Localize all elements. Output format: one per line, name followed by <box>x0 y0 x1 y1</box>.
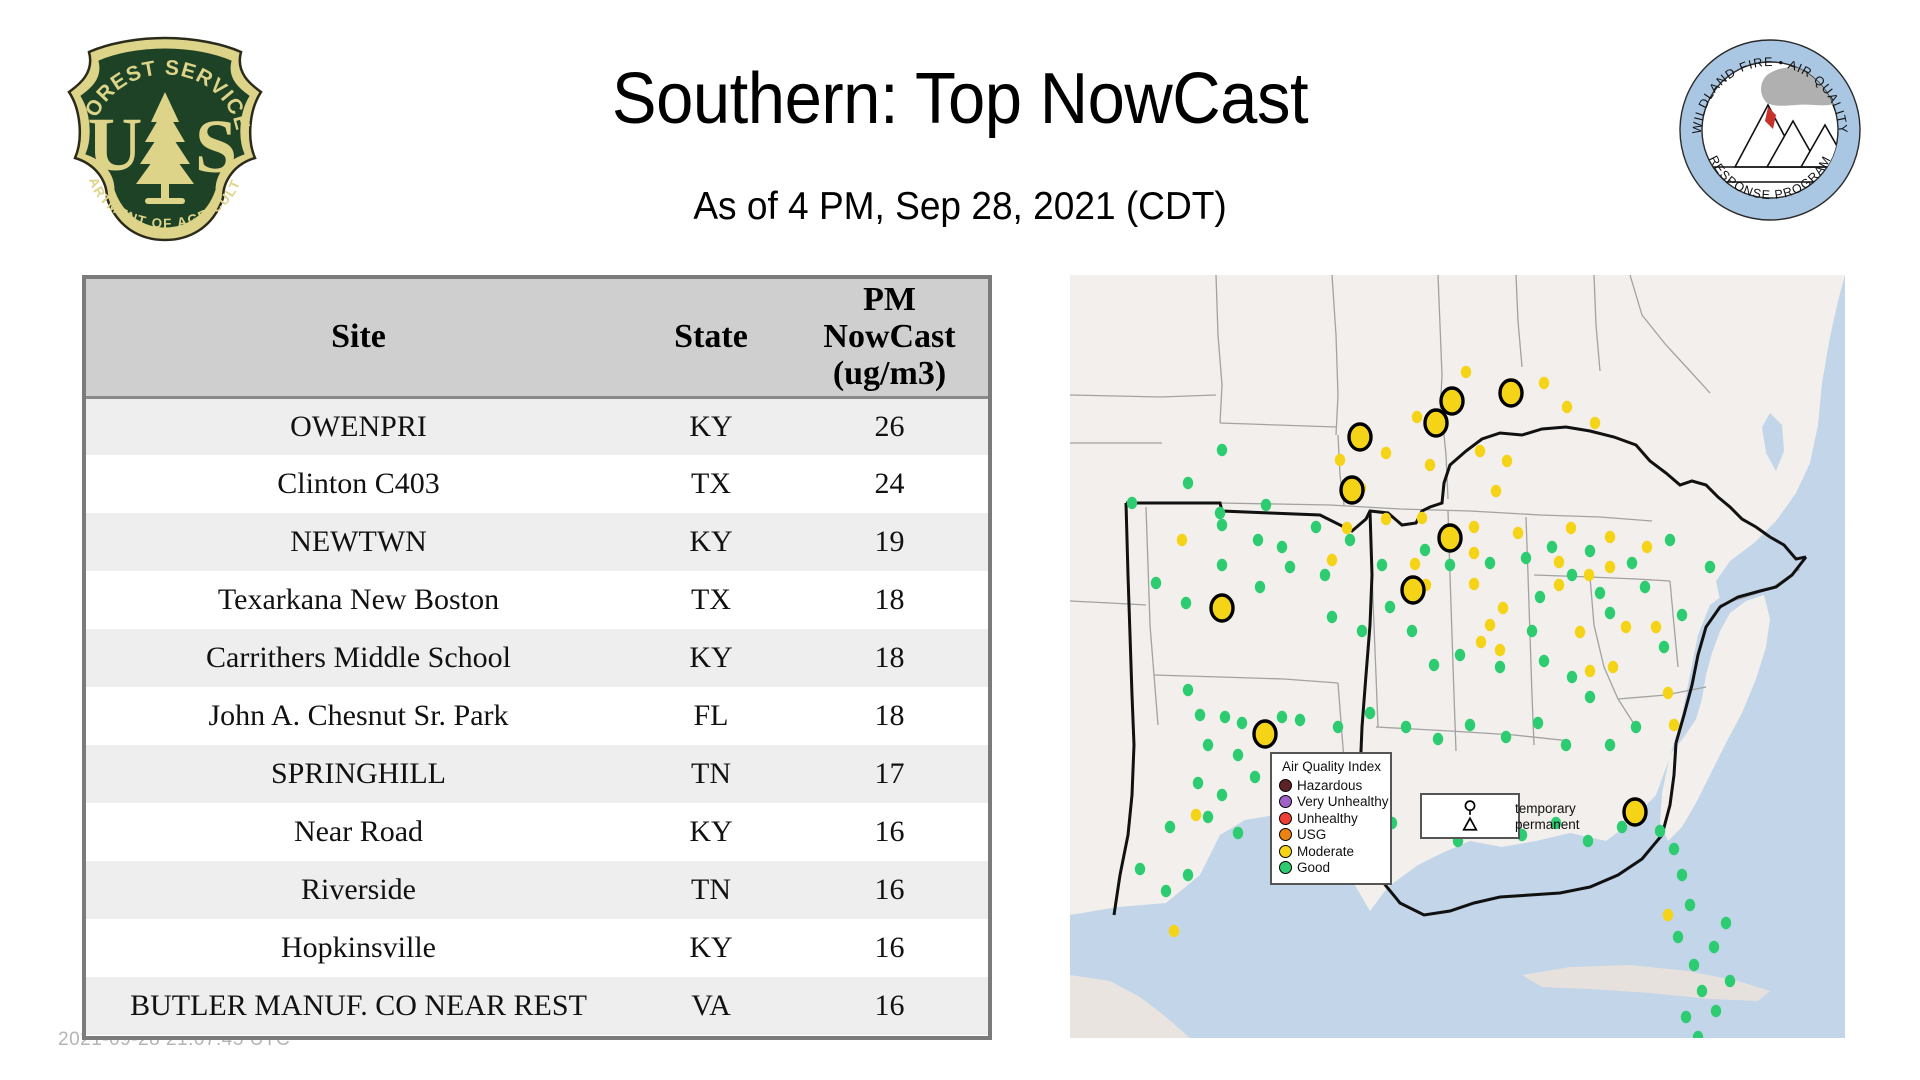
good-monitor-dot <box>1333 721 1343 733</box>
good-monitor-dot <box>1195 709 1205 721</box>
pm-cell: 24 <box>791 455 988 513</box>
good-monitor-dot <box>1261 499 1271 511</box>
moderate-monitor-dot <box>1412 411 1422 423</box>
good-monitor-dot <box>1585 545 1595 557</box>
good-monitor-dot <box>1527 625 1537 637</box>
moderate-monitor-dot <box>1608 661 1618 673</box>
moderate-monitor-dot <box>1342 522 1352 534</box>
top-site-marker[interactable] <box>1254 721 1276 747</box>
aqi-swatch-icon <box>1279 828 1292 841</box>
good-monitor-dot <box>1327 611 1337 623</box>
moderate-monitor-dot <box>1566 522 1576 534</box>
top-nowcast-table: Site State PM NowCast (ug/m3) OWENPRIKY2… <box>82 275 992 1040</box>
moderate-monitor-dot <box>1381 513 1391 525</box>
site-cell: Riverside <box>86 861 631 919</box>
good-monitor-dot <box>1567 671 1577 683</box>
table-row: SPRINGHILLTN17 <box>86 745 988 803</box>
moderate-monitor-dot <box>1605 531 1615 543</box>
good-monitor-dot <box>1217 444 1227 456</box>
aqi-legend-label: Hazardous <box>1297 778 1362 793</box>
good-monitor-dot <box>1627 557 1637 569</box>
moderate-monitor-dot <box>1584 569 1594 581</box>
good-monitor-dot <box>1539 655 1549 667</box>
aqi-legend-row: Unhealthy <box>1279 810 1384 827</box>
good-monitor-dot <box>1253 534 1263 546</box>
good-monitor-dot <box>1345 534 1355 546</box>
svg-text:S: S <box>195 105 237 189</box>
good-monitor-dot <box>1721 917 1731 929</box>
moderate-monitor-dot <box>1554 556 1564 568</box>
moderate-monitor-dot <box>1169 925 1179 937</box>
good-monitor-dot <box>1583 835 1593 847</box>
good-monitor-dot <box>1295 714 1305 726</box>
moderate-monitor-dot <box>1663 909 1673 921</box>
aqi-legend-label: Moderate <box>1297 844 1354 859</box>
good-monitor-dot <box>1617 821 1627 833</box>
moderate-monitor-dot <box>1335 454 1345 466</box>
good-monitor-dot <box>1677 609 1687 621</box>
moderate-monitor-dot <box>1485 619 1495 631</box>
good-monitor-dot <box>1217 519 1227 531</box>
good-monitor-dot <box>1401 721 1411 733</box>
good-monitor-dot <box>1151 577 1161 589</box>
site-cell: Clinton C403 <box>86 455 631 513</box>
air-quality-map[interactable]: Air Quality Index HazardousVery Unhealth… <box>1070 275 1845 1038</box>
good-monitor-dot <box>1217 559 1227 571</box>
moderate-monitor-dot <box>1476 636 1486 648</box>
aqi-swatch-icon <box>1279 812 1292 825</box>
good-monitor-dot <box>1485 557 1495 569</box>
site-cell: BUTLER MANUF. CO NEAR REST <box>86 977 631 1035</box>
svg-text:U: U <box>88 103 143 187</box>
page-subtitle: As of 4 PM, Sep 28, 2021 (CDT) <box>48 185 1872 229</box>
good-monitor-dot <box>1535 591 1545 603</box>
aqi-legend-label: Very Unhealthy <box>1297 794 1389 809</box>
good-monitor-dot <box>1203 739 1213 751</box>
legend-row-permanent: permanent <box>1428 816 1512 832</box>
table-row: Near RoadKY16 <box>86 803 988 861</box>
good-monitor-dot <box>1685 899 1695 911</box>
good-monitor-dot <box>1233 749 1243 761</box>
moderate-monitor-dot <box>1651 621 1661 633</box>
legend-row-temporary: temporary <box>1428 800 1512 816</box>
moderate-monitor-dot <box>1469 547 1479 559</box>
good-monitor-dot <box>1521 552 1531 564</box>
state-cell: TX <box>631 571 791 629</box>
good-monitor-dot <box>1501 731 1511 743</box>
page-title: Southern: Top NowCast <box>67 58 1853 140</box>
pm-cell: 18 <box>791 571 988 629</box>
state-cell: TX <box>631 455 791 513</box>
table-row: John A. Chesnut Sr. ParkFL18 <box>86 687 988 745</box>
temporary-circle-icon <box>1428 800 1512 816</box>
map-svg <box>1070 275 1845 1038</box>
state-cell: KY <box>631 397 791 455</box>
table-row: OWENPRIKY26 <box>86 397 988 455</box>
good-monitor-dot <box>1233 827 1243 839</box>
good-monitor-dot <box>1595 587 1605 599</box>
good-monitor-dot <box>1215 507 1225 519</box>
site-cell: NEWTWN <box>86 513 631 571</box>
site-cell: Near Road <box>86 803 631 861</box>
aqi-legend-label: Good <box>1297 860 1330 875</box>
site-cell: SPRINGHILL <box>86 745 631 803</box>
aqi-swatch-icon <box>1279 795 1292 808</box>
top-site-marker[interactable] <box>1402 577 1424 603</box>
pm-header-line-2: NowCast <box>791 319 988 356</box>
good-monitor-dot <box>1385 601 1395 613</box>
good-monitor-dot <box>1277 711 1287 723</box>
state-cell: KY <box>631 629 791 687</box>
pm-cell: 26 <box>791 397 988 455</box>
top-site-marker[interactable] <box>1624 799 1646 825</box>
good-monitor-dot <box>1433 733 1443 745</box>
good-monitor-dot <box>1161 885 1171 897</box>
top-site-marker[interactable] <box>1500 380 1522 406</box>
pm-cell: 16 <box>791 861 988 919</box>
good-monitor-dot <box>1495 661 1505 673</box>
good-monitor-dot <box>1640 581 1650 593</box>
column-header-state: State <box>631 279 791 397</box>
moderate-monitor-dot <box>1381 447 1391 459</box>
moderate-monitor-dot <box>1191 809 1201 821</box>
good-monitor-dot <box>1165 821 1175 833</box>
good-monitor-dot <box>1665 534 1675 546</box>
good-monitor-dot <box>1183 477 1193 489</box>
aqi-legend-row: Hazardous <box>1279 777 1384 794</box>
pm-cell: 19 <box>791 513 988 571</box>
state-cell: KY <box>631 513 791 571</box>
good-monitor-dot <box>1605 739 1615 751</box>
legend-label-temporary: temporary <box>1515 801 1576 816</box>
moderate-monitor-dot <box>1469 521 1479 533</box>
table-row: RiversideTN16 <box>86 861 988 919</box>
good-monitor-dot <box>1567 569 1577 581</box>
moderate-monitor-dot <box>1562 401 1572 413</box>
table-row: HopkinsvilleKY16 <box>86 919 988 977</box>
good-monitor-dot <box>1631 721 1641 733</box>
moderate-monitor-dot <box>1327 554 1337 566</box>
table-body: OWENPRIKY26Clinton C403TX24NEWTWNKY19Tex… <box>86 397 988 1035</box>
site-cell: Carrithers Middle School <box>86 629 631 687</box>
pm-cell: 16 <box>791 803 988 861</box>
site-cell: Hopkinsville <box>86 919 631 977</box>
state-cell: KY <box>631 803 791 861</box>
state-cell: VA <box>631 977 791 1035</box>
moderate-monitor-dot <box>1642 541 1652 553</box>
permanent-triangle-icon <box>1428 816 1512 832</box>
table-row: NEWTWNKY19 <box>86 513 988 571</box>
good-monitor-dot <box>1127 497 1137 509</box>
pm-header-line-3: (ug/m3) <box>791 356 988 393</box>
aqi-swatch-icon <box>1279 861 1292 874</box>
slide-canvas: 2021-09-28 21:07:45 UTC FOREST SERVICE U… <box>0 0 1920 1080</box>
aqi-legend-row: Very Unhealthy <box>1279 794 1384 811</box>
site-cell: OWENPRI <box>86 397 631 455</box>
aqi-legend-row: Moderate <box>1279 843 1384 860</box>
good-monitor-dot <box>1585 691 1595 703</box>
good-monitor-dot <box>1455 649 1465 661</box>
top-site-marker[interactable] <box>1341 477 1363 503</box>
good-monitor-dot <box>1533 717 1543 729</box>
good-monitor-dot <box>1711 1005 1721 1017</box>
moderate-monitor-dot <box>1621 621 1631 633</box>
top-site-marker[interactable] <box>1349 424 1371 450</box>
good-monitor-dot <box>1429 659 1439 671</box>
top-site-marker[interactable] <box>1211 595 1233 621</box>
state-cell: KY <box>631 919 791 977</box>
top-site-marker[interactable] <box>1425 410 1447 436</box>
good-monitor-dot <box>1445 559 1455 571</box>
moderate-monitor-dot <box>1539 377 1549 389</box>
good-monitor-dot <box>1705 561 1715 573</box>
state-cell: TN <box>631 861 791 919</box>
aqi-legend-label: Unhealthy <box>1297 811 1358 826</box>
aqi-swatch-icon <box>1279 845 1292 858</box>
good-monitor-dot <box>1561 739 1571 751</box>
good-monitor-dot <box>1237 717 1247 729</box>
aqi-legend-label: USG <box>1297 827 1326 842</box>
table-row: Carrithers Middle SchoolKY18 <box>86 629 988 687</box>
good-monitor-dot <box>1285 561 1295 573</box>
state-cell: FL <box>631 687 791 745</box>
moderate-monitor-dot <box>1498 602 1508 614</box>
moderate-monitor-dot <box>1502 455 1512 467</box>
good-monitor-dot <box>1365 707 1375 719</box>
good-monitor-dot <box>1203 811 1213 823</box>
moderate-monitor-dot <box>1417 512 1427 524</box>
pm-cell: 17 <box>791 745 988 803</box>
good-monitor-dot <box>1465 719 1475 731</box>
top-site-marker[interactable] <box>1441 388 1463 414</box>
pm-cell: 16 <box>791 919 988 977</box>
good-monitor-dot <box>1320 569 1330 581</box>
good-monitor-dot <box>1277 541 1287 553</box>
aqi-swatch-icon <box>1279 779 1292 792</box>
legend-label-permanent: permanent <box>1515 817 1580 832</box>
good-monitor-dot <box>1407 625 1417 637</box>
good-monitor-dot <box>1689 959 1699 971</box>
good-monitor-dot <box>1725 975 1735 987</box>
good-monitor-dot <box>1311 521 1321 533</box>
good-monitor-dot <box>1709 941 1719 953</box>
table-row: Clinton C403TX24 <box>86 455 988 513</box>
good-monitor-dot <box>1659 641 1669 653</box>
moderate-monitor-dot <box>1410 558 1420 570</box>
good-monitor-dot <box>1255 581 1265 593</box>
good-monitor-dot <box>1250 771 1260 783</box>
moderate-monitor-dot <box>1461 366 1471 378</box>
good-monitor-dot <box>1655 825 1665 837</box>
moderate-monitor-dot <box>1513 527 1523 539</box>
moderate-monitor-dot <box>1491 485 1501 497</box>
aqi-legend-items: HazardousVery UnhealthyUnhealthyUSGModer… <box>1279 777 1384 876</box>
good-monitor-dot <box>1135 863 1145 875</box>
moderate-monitor-dot <box>1585 665 1595 677</box>
aqi-legend-title: Air Quality Index <box>1279 759 1384 774</box>
column-header-site: Site <box>86 279 631 397</box>
site-cell: John A. Chesnut Sr. Park <box>86 687 631 745</box>
pm-cell: 18 <box>791 687 988 745</box>
good-monitor-dot <box>1183 684 1193 696</box>
good-monitor-dot <box>1605 607 1615 619</box>
good-monitor-dot <box>1697 985 1707 997</box>
moderate-monitor-dot <box>1469 578 1479 590</box>
forest-service-logo: FOREST SERVICE U S DEPARTMENT OF AGRICUL… <box>55 30 275 245</box>
moderate-monitor-dot <box>1669 719 1679 731</box>
good-monitor-dot <box>1420 544 1430 556</box>
table-row: Texarkana New BostonTX18 <box>86 571 988 629</box>
good-monitor-dot <box>1183 869 1193 881</box>
table-row: BUTLER MANUF. CO NEAR RESTVA16 <box>86 977 988 1035</box>
pm-cell: 18 <box>791 629 988 687</box>
pm-header-line-1: PM <box>791 282 988 319</box>
good-monitor-dot <box>1217 789 1227 801</box>
monitor-type-legend: temporary permanent <box>1420 793 1520 839</box>
moderate-monitor-dot <box>1177 534 1187 546</box>
good-monitor-dot <box>1357 625 1367 637</box>
good-monitor-dot <box>1547 541 1557 553</box>
good-monitor-dot <box>1673 931 1683 943</box>
site-cell: Texarkana New Boston <box>86 571 631 629</box>
good-monitor-dot <box>1669 843 1679 855</box>
good-monitor-dot <box>1681 1011 1691 1023</box>
good-monitor-dot <box>1181 597 1191 609</box>
wfaqrp-logo: WILDLAND FIRE • AIR QUALITY RESPONSE PRO… <box>1675 35 1865 225</box>
column-header-pm: PM NowCast (ug/m3) <box>791 279 988 397</box>
aqi-legend: Air Quality Index HazardousVery Unhealth… <box>1270 752 1392 885</box>
moderate-monitor-dot <box>1554 579 1564 591</box>
top-site-marker[interactable] <box>1439 525 1461 551</box>
table-header-row: Site State PM NowCast (ug/m3) <box>86 279 988 397</box>
good-monitor-dot <box>1220 711 1230 723</box>
moderate-monitor-dot <box>1663 687 1673 699</box>
good-monitor-dot <box>1377 559 1387 571</box>
good-monitor-dot <box>1677 869 1687 881</box>
state-cell: TN <box>631 745 791 803</box>
pm-cell: 16 <box>791 977 988 1035</box>
moderate-monitor-dot <box>1475 445 1485 457</box>
aqi-legend-row: USG <box>1279 827 1384 844</box>
moderate-monitor-dot <box>1425 459 1435 471</box>
moderate-monitor-dot <box>1495 644 1505 656</box>
moderate-monitor-dot <box>1605 561 1615 573</box>
aqi-legend-row: Good <box>1279 860 1384 877</box>
moderate-monitor-dot <box>1590 417 1600 429</box>
moderate-monitor-dot <box>1575 626 1585 638</box>
good-monitor-dot <box>1193 777 1203 789</box>
